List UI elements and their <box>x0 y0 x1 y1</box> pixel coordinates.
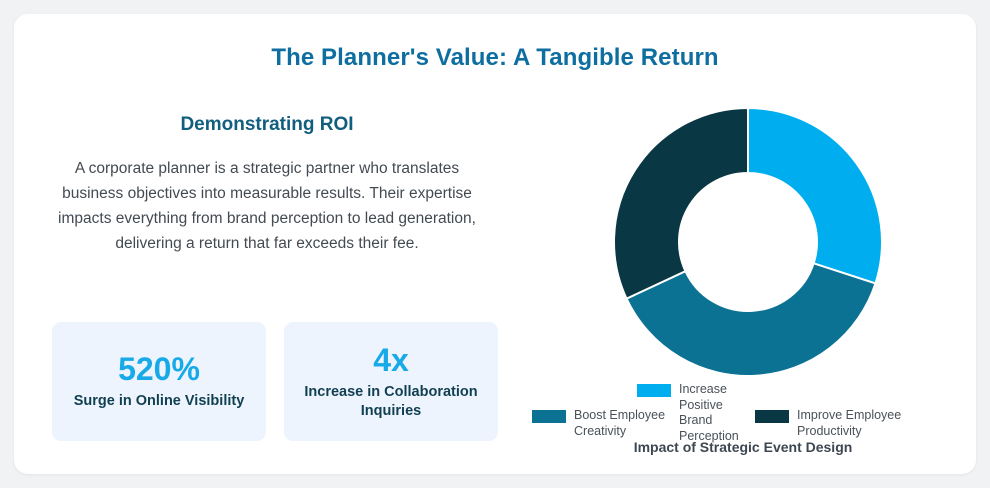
donut-chart: Increase Positive Brand Perception Boost… <box>510 42 976 472</box>
section-paragraph: A corporate planner is a strategic partn… <box>38 156 496 256</box>
donut-graphic <box>614 108 882 376</box>
legend-item-boost-employee-creativity[interactable]: Boost Employee Creativity <box>532 408 672 439</box>
legend-item-improve-employee-productivity[interactable]: Improve Employee Productivity <box>755 408 905 439</box>
legend-label: Boost Employee Creativity <box>574 408 672 439</box>
donut-svg <box>614 108 882 376</box>
stat-value: 4x <box>373 342 409 380</box>
legend-swatch-icon <box>755 410 789 423</box>
donut-slice[interactable] <box>748 108 882 283</box>
stat-card-inquiries: 4x Increase in Collaboration Inquiries <box>284 322 498 441</box>
section-heading: Demonstrating ROI <box>38 114 496 136</box>
roi-text-column: Demonstrating ROI A corporate planner is… <box>38 114 496 256</box>
page-root: The Planner's Value: A Tangible Return D… <box>0 0 990 488</box>
chart-caption: Impact of Strategic Event Design <box>510 439 976 455</box>
stat-card-visibility: 520% Surge in Online Visibility <box>52 322 266 441</box>
chart-legend: Increase Positive Brand Perception Boost… <box>510 382 976 434</box>
legend-label: Improve Employee Productivity <box>797 408 905 439</box>
legend-swatch-icon <box>532 410 566 423</box>
stat-label: Increase in Collaboration Inquiries <box>294 383 488 422</box>
stat-label: Surge in Online Visibility <box>74 392 245 411</box>
legend-label: Increase Positive Brand Perception <box>679 382 751 445</box>
legend-swatch-icon <box>637 384 671 397</box>
content-card: The Planner's Value: A Tangible Return D… <box>14 14 976 474</box>
stats-row: 520% Surge in Online Visibility 4x Incre… <box>52 322 498 441</box>
stat-value: 520% <box>118 351 200 389</box>
donut-slice[interactable] <box>614 108 748 299</box>
